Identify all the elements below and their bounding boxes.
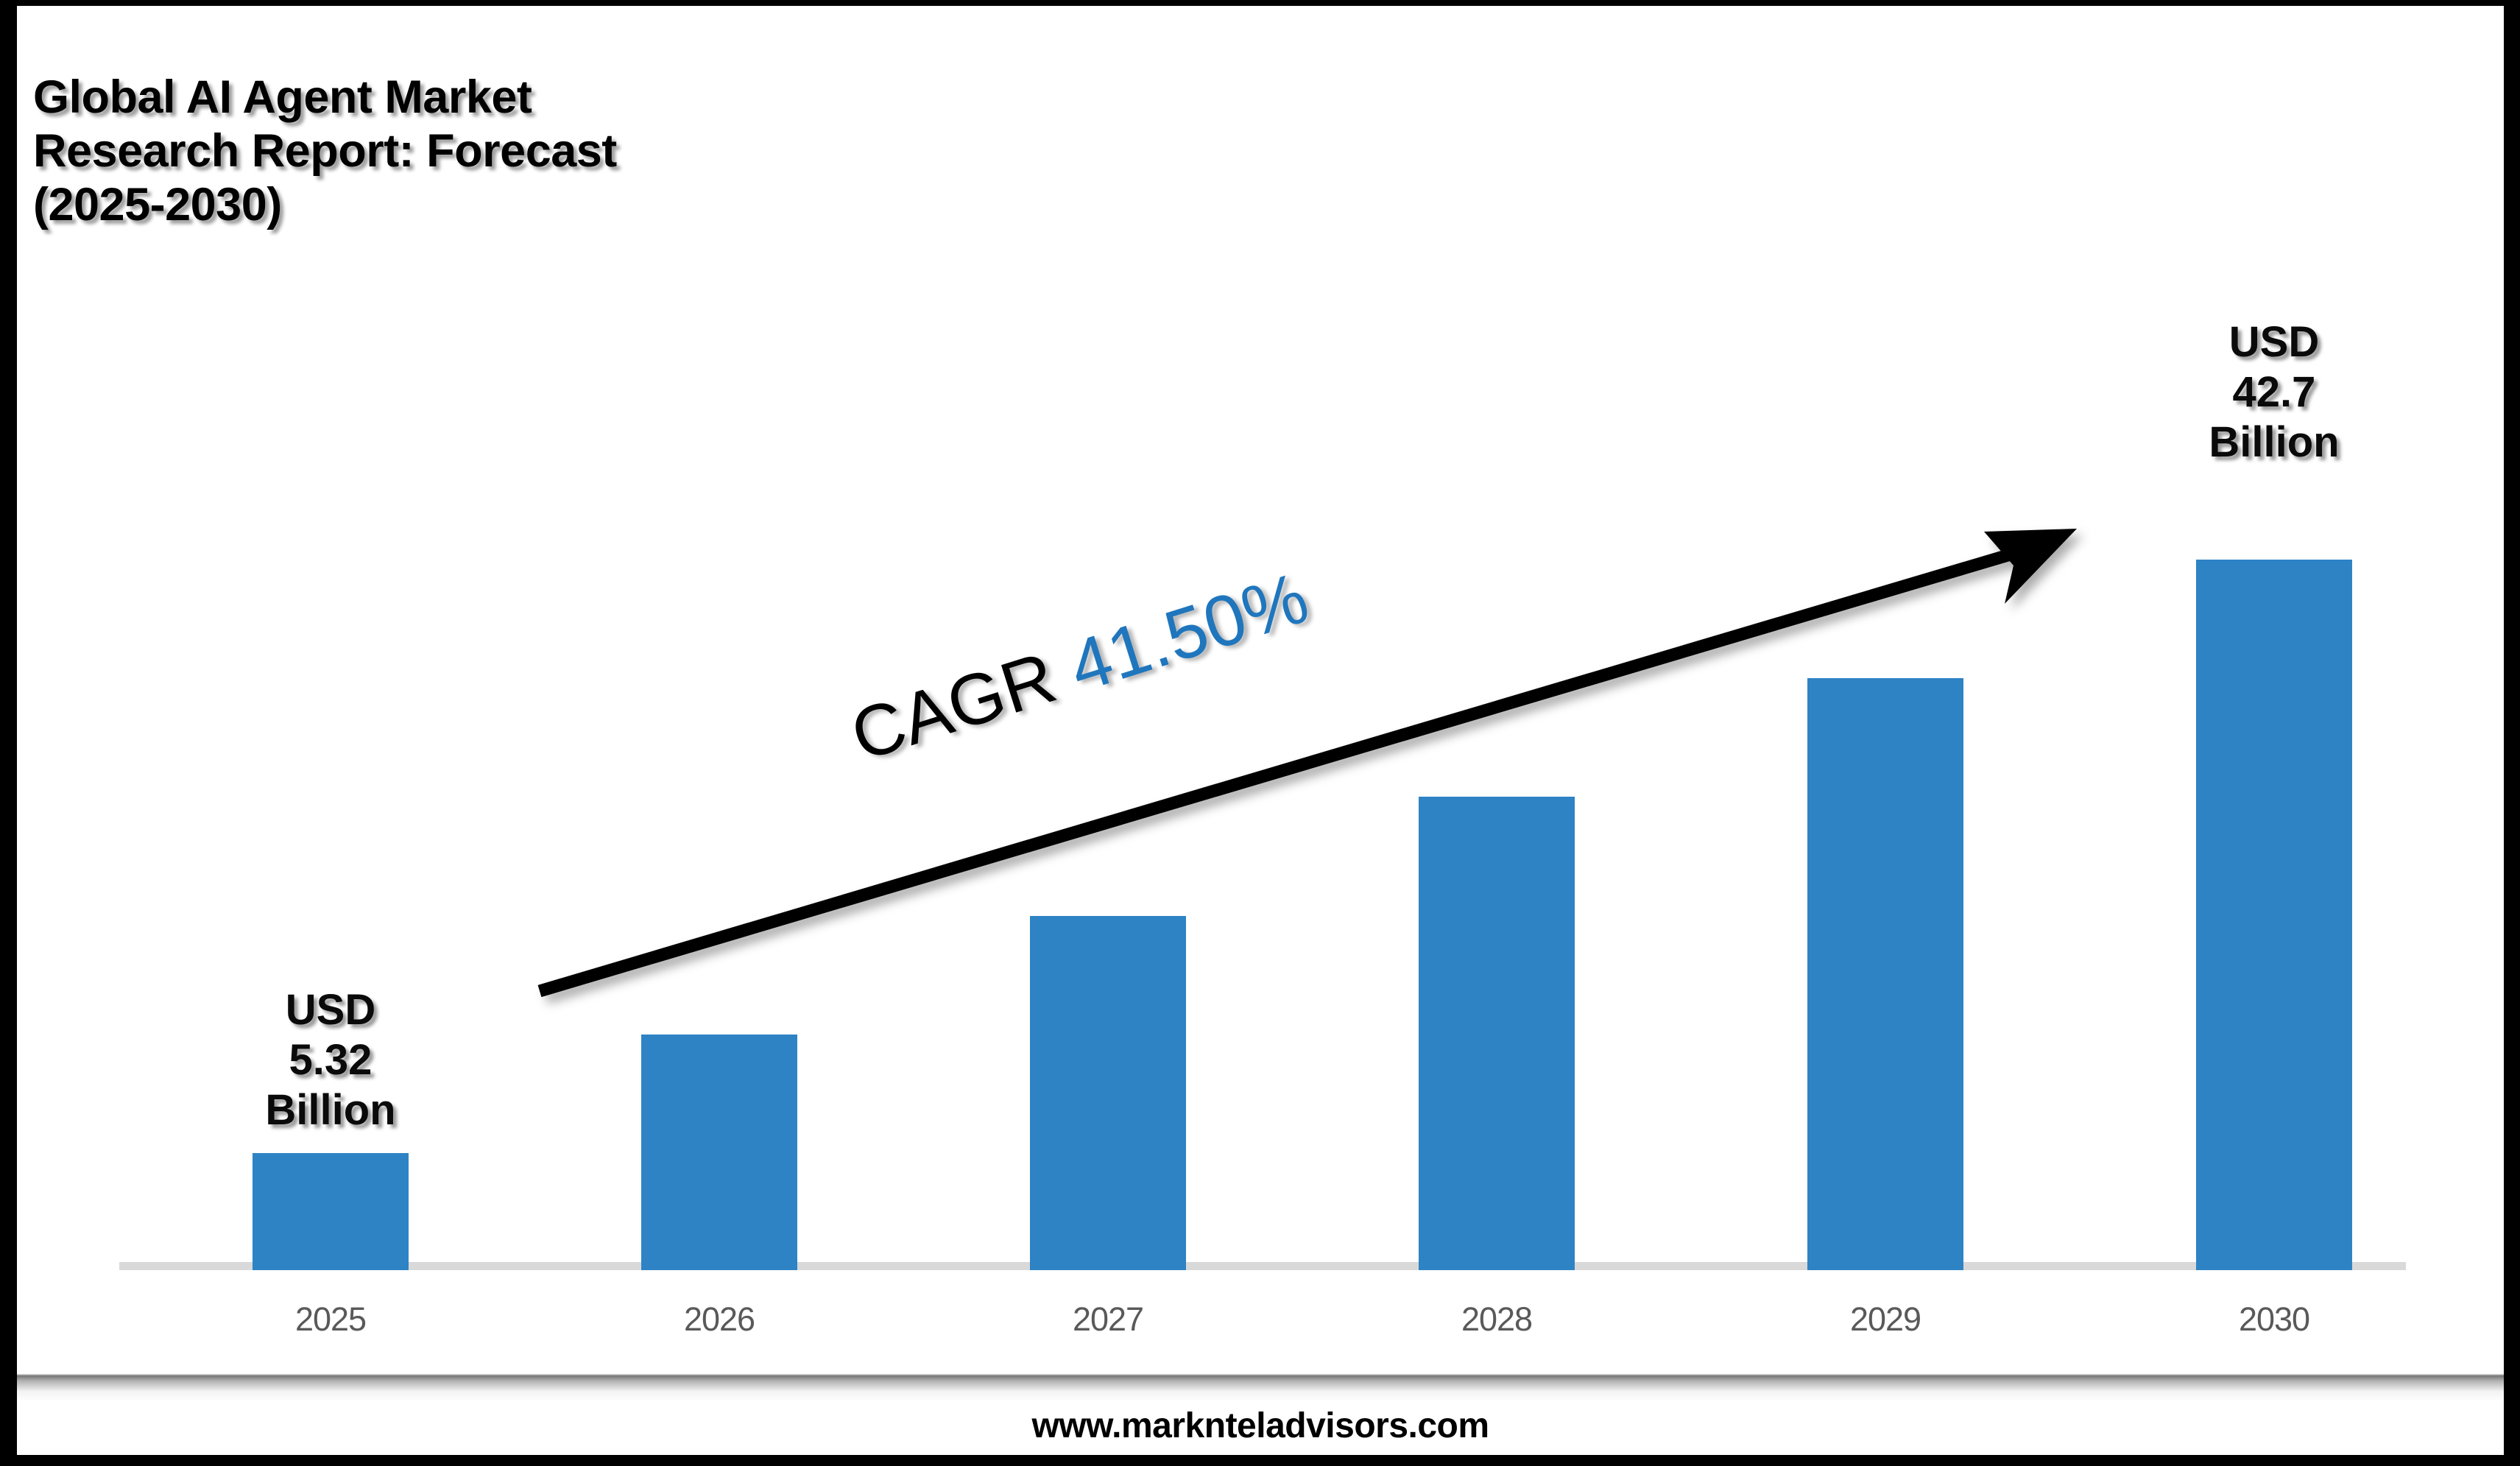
x-tick-2030: 2030 xyxy=(2164,1300,2385,1339)
bar-2029 xyxy=(1807,678,1963,1270)
bar-2025 xyxy=(253,1153,409,1270)
x-tick-2029: 2029 xyxy=(1775,1300,1996,1339)
x-tick-2025: 2025 xyxy=(220,1300,441,1339)
x-axis-line xyxy=(119,1262,2406,1270)
x-tick-2027: 2027 xyxy=(998,1300,1218,1339)
footer-website: www.marknteladvisors.com xyxy=(17,1406,2504,1446)
chart-image-frame: Global AI Agent Market Research Report: … xyxy=(0,0,2520,1466)
x-tick-2026: 2026 xyxy=(609,1300,830,1339)
bar-2027 xyxy=(1030,916,1186,1270)
cagr-label-word: CAGR xyxy=(841,636,1065,776)
cagr-annotation: CAGR 41.50% xyxy=(841,556,1318,778)
bar-2030 xyxy=(2196,560,2352,1270)
x-tick-2028: 2028 xyxy=(1386,1300,1607,1339)
bar-2026 xyxy=(641,1035,797,1270)
footer-divider xyxy=(17,1367,2504,1402)
value-label-2025: USD 5.32 Billion xyxy=(176,985,485,1135)
value-label-2030: USD 42.7 Billion xyxy=(2120,317,2429,468)
chart-canvas: Global AI Agent Market Research Report: … xyxy=(17,6,2504,1455)
plot-area: USD 5.32 Billion USD 42.7 Billion CAGR 4… xyxy=(17,6,2504,1455)
cagr-label-value: 41.50% xyxy=(1059,557,1317,708)
bar-2028 xyxy=(1419,797,1575,1270)
